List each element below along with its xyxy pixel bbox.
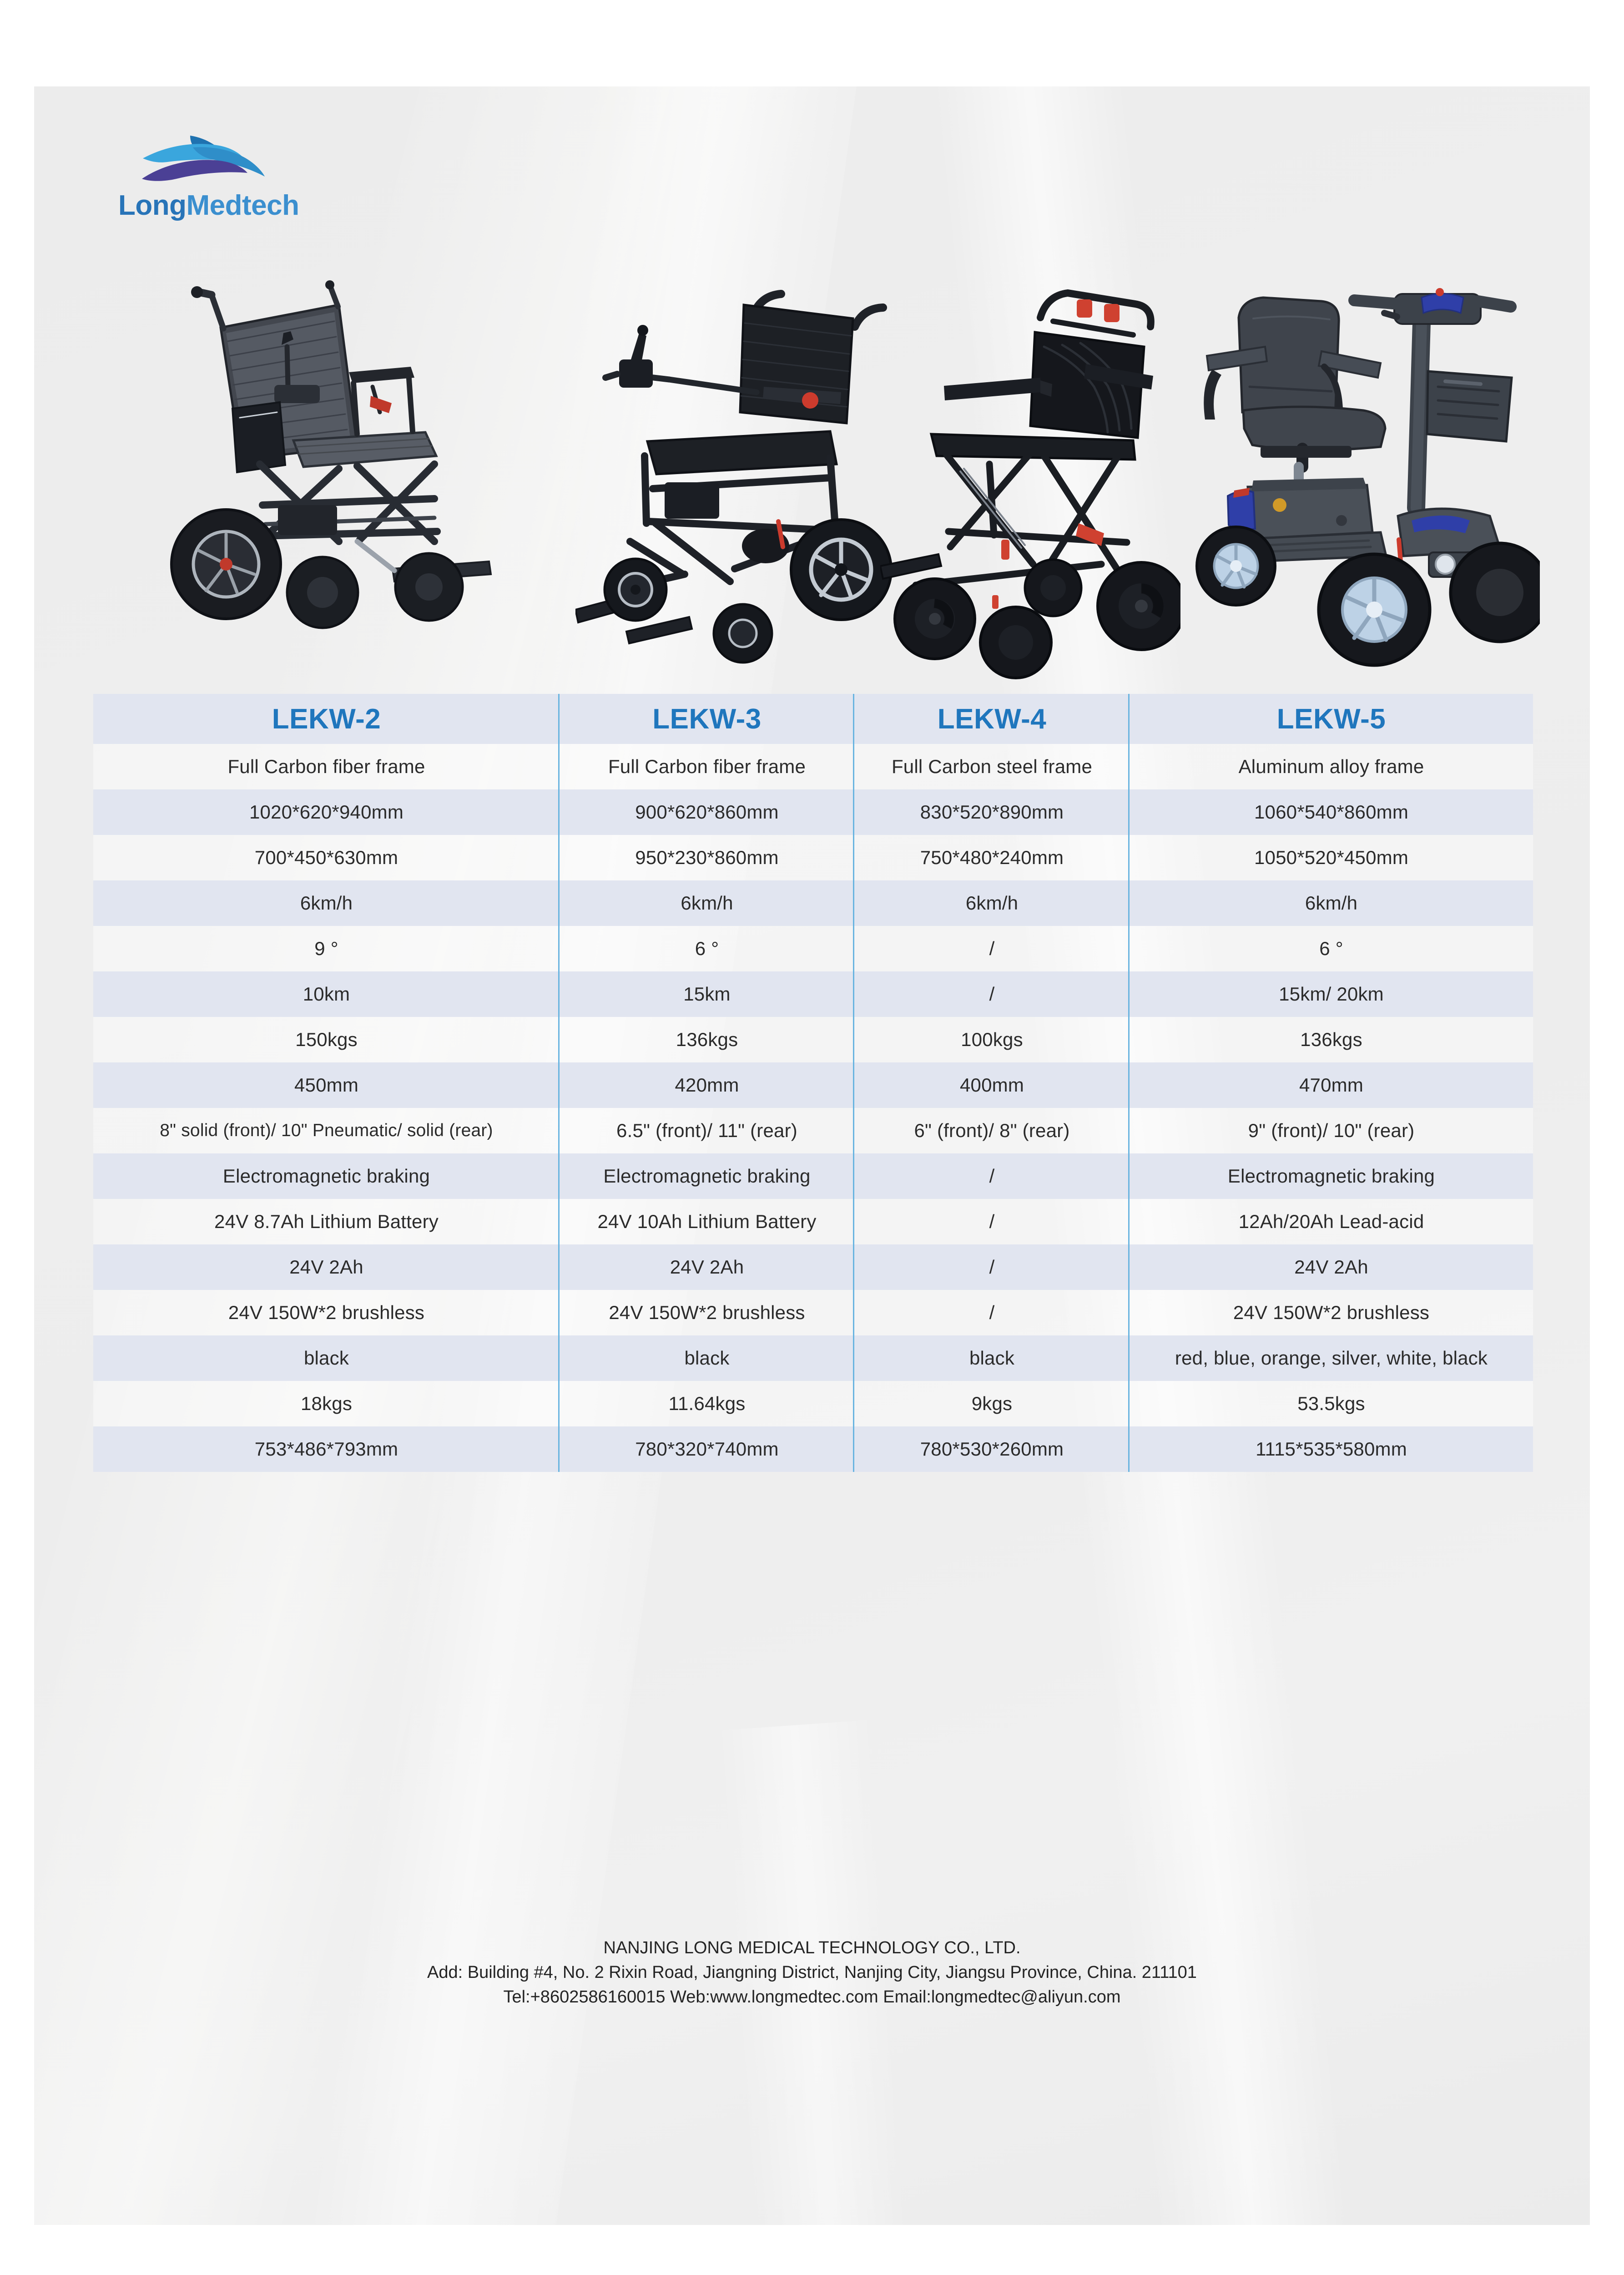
cell-net-weight-lekw-3: 11.64kgs — [560, 1381, 854, 1426]
cell-speed-lekw-5: 6km/h — [1130, 880, 1533, 926]
cell-frame-lekw-5: Aluminum alloy frame — [1130, 744, 1533, 789]
logo-word-long: Long — [118, 190, 187, 221]
cell-tires-lekw-2: 8" solid (front)/ 10" Pneumatic/ solid (… — [93, 1108, 560, 1153]
table-row: Electromagnetic braking Electromagnetic … — [93, 1153, 1533, 1199]
cell-range-lekw-3: 15km — [560, 971, 854, 1017]
cell-charger-lekw-3: 24V 2Ah — [560, 1244, 854, 1290]
cell-tires-lekw-3: 6.5" (front)/ 11" (rear) — [560, 1108, 854, 1153]
cell-braking-lekw-3: Electromagnetic braking — [560, 1153, 854, 1199]
cell-load-lekw-5: 136kgs — [1130, 1017, 1533, 1062]
logo-word-medtech: Medtech — [187, 190, 299, 221]
cell-color-lekw-3: black — [560, 1335, 854, 1381]
cell-speed-lekw-2: 6km/h — [93, 880, 560, 926]
cell-folded-size-lekw-2: 700*450*630mm — [93, 835, 560, 880]
table-row: 6km/h 6km/h 6km/h 6km/h — [93, 880, 1533, 926]
cell-load-lekw-3: 136kgs — [560, 1017, 854, 1062]
footer-contact-line: Tel:+8602586160015 Web:www.longmedtec.co… — [34, 1985, 1590, 2010]
table-header-row: LEKW-2 LEKW-3 LEKW-4 LEKW-5 — [93, 694, 1533, 744]
cell-load-lekw-2: 150kgs — [93, 1017, 560, 1062]
footer-contact-block: NANJING LONG MEDICAL TECHNOLOGY CO., LTD… — [34, 1936, 1590, 2010]
cell-package-size-lekw-2: 753*486*793mm — [93, 1426, 560, 1472]
column-header-lekw-3: LEKW-3 — [560, 694, 854, 744]
spec-sheet-page: LongMedtech — [34, 86, 1590, 2225]
cell-seat-width-lekw-4: 400mm — [854, 1062, 1130, 1108]
cell-charger-lekw-5: 24V 2Ah — [1130, 1244, 1533, 1290]
footer-company-name: NANJING LONG MEDICAL TECHNOLOGY CO., LTD… — [34, 1936, 1590, 1961]
cell-color-lekw-4: black — [854, 1335, 1130, 1381]
table-row: 450mm 420mm 400mm 470mm — [93, 1062, 1533, 1108]
table-row: 150kgs 136kgs 100kgs 136kgs — [93, 1017, 1533, 1062]
cell-range-lekw-4: / — [854, 971, 1130, 1017]
product-image-lekw-4 — [880, 250, 1180, 682]
cell-frame-lekw-3: Full Carbon fiber frame — [560, 744, 854, 789]
cell-range-lekw-5: 15km/ 20km — [1130, 971, 1533, 1017]
logo-wordmark: LongMedtech — [118, 189, 309, 222]
table-row: Full Carbon fiber frame Full Carbon fibe… — [93, 744, 1533, 789]
product-image-lekw-2 — [143, 250, 507, 682]
cell-motor-lekw-5: 24V 150W*2 brushless — [1130, 1290, 1533, 1335]
cell-charger-lekw-4: / — [854, 1244, 1130, 1290]
cell-net-weight-lekw-4: 9kgs — [854, 1381, 1130, 1426]
cell-net-weight-lekw-2: 18kgs — [93, 1381, 560, 1426]
cell-motor-lekw-3: 24V 150W*2 brushless — [560, 1290, 854, 1335]
cell-net-weight-lekw-5: 53.5kgs — [1130, 1381, 1533, 1426]
cell-climb-angle-lekw-5: 6 ° — [1130, 926, 1533, 971]
table-row: 24V 8.7Ah Lithium Battery 24V 10Ah Lithi… — [93, 1199, 1533, 1244]
cell-tires-lekw-4: 6" (front)/ 8" (rear) — [854, 1108, 1130, 1153]
cell-motor-lekw-4: / — [854, 1290, 1130, 1335]
cell-braking-lekw-5: Electromagnetic braking — [1130, 1153, 1533, 1199]
cell-color-lekw-5: red, blue, orange, silver, white, black — [1130, 1335, 1533, 1381]
cell-color-lekw-2: black — [93, 1335, 560, 1381]
table-row: 24V 150W*2 brushless 24V 150W*2 brushles… — [93, 1290, 1533, 1335]
cell-battery-lekw-5: 12Ah/20Ah Lead-acid — [1130, 1199, 1533, 1244]
column-header-lekw-2: LEKW-2 — [93, 694, 560, 744]
product-image-strip — [34, 250, 1590, 682]
product-image-lekw-3 — [575, 250, 894, 682]
cell-climb-angle-lekw-2: 9 ° — [93, 926, 560, 971]
cell-seat-width-lekw-2: 450mm — [93, 1062, 560, 1108]
table-row: 753*486*793mm 780*320*740mm 780*530*260m… — [93, 1426, 1533, 1472]
table-row: 8" solid (front)/ 10" Pneumatic/ solid (… — [93, 1108, 1533, 1153]
cell-package-size-lekw-4: 780*530*260mm — [854, 1426, 1130, 1472]
column-header-lekw-4: LEKW-4 — [854, 694, 1130, 744]
cell-charger-lekw-2: 24V 2Ah — [93, 1244, 560, 1290]
cell-tires-lekw-5: 9" (front)/ 10" (rear) — [1130, 1108, 1533, 1153]
cell-frame-lekw-4: Full Carbon steel frame — [854, 744, 1130, 789]
cell-braking-lekw-4: / — [854, 1153, 1130, 1199]
table-row: 24V 2Ah 24V 2Ah / 24V 2Ah — [93, 1244, 1533, 1290]
cell-folded-size-lekw-5: 1050*520*450mm — [1130, 835, 1533, 880]
cell-range-lekw-2: 10km — [93, 971, 560, 1017]
cell-speed-lekw-3: 6km/h — [560, 880, 854, 926]
wave-bird-logo-icon — [139, 132, 276, 187]
cell-folded-size-lekw-3: 950*230*860mm — [560, 835, 854, 880]
cell-climb-angle-lekw-3: 6 ° — [560, 926, 854, 971]
table-row: 10km 15km / 15km/ 20km — [93, 971, 1533, 1017]
table-row: 1020*620*940mm 900*620*860mm 830*520*890… — [93, 789, 1533, 835]
cell-frame-lekw-2: Full Carbon fiber frame — [93, 744, 560, 789]
footer-address: Add: Building #4, No. 2 Rixin Road, Jian… — [34, 1961, 1590, 1985]
company-logo: LongMedtech — [118, 132, 309, 222]
cell-unfolded-size-lekw-3: 900*620*860mm — [560, 789, 854, 835]
cell-folded-size-lekw-4: 750*480*240mm — [854, 835, 1130, 880]
cell-unfolded-size-lekw-2: 1020*620*940mm — [93, 789, 560, 835]
cell-seat-width-lekw-5: 470mm — [1130, 1062, 1533, 1108]
cell-seat-width-lekw-3: 420mm — [560, 1062, 854, 1108]
table-row: black black black red, blue, orange, sil… — [93, 1335, 1533, 1381]
cell-motor-lekw-2: 24V 150W*2 brushless — [93, 1290, 560, 1335]
cell-braking-lekw-2: Electromagnetic braking — [93, 1153, 560, 1199]
cell-unfolded-size-lekw-5: 1060*540*860mm — [1130, 789, 1533, 835]
product-image-lekw-5 — [1185, 250, 1540, 682]
cell-load-lekw-4: 100kgs — [854, 1017, 1130, 1062]
cell-unfolded-size-lekw-4: 830*520*890mm — [854, 789, 1130, 835]
cell-package-size-lekw-5: 1115*535*580mm — [1130, 1426, 1533, 1472]
table-row: 18kgs 11.64kgs 9kgs 53.5kgs — [93, 1381, 1533, 1426]
specification-table: LEKW-2 LEKW-3 LEKW-4 LEKW-5 Full Carbon … — [93, 694, 1533, 1472]
cell-battery-lekw-2: 24V 8.7Ah Lithium Battery — [93, 1199, 560, 1244]
cell-battery-lekw-3: 24V 10Ah Lithium Battery — [560, 1199, 854, 1244]
column-header-lekw-5: LEKW-5 — [1130, 694, 1533, 744]
cell-speed-lekw-4: 6km/h — [854, 880, 1130, 926]
table-row: 700*450*630mm 950*230*860mm 750*480*240m… — [93, 835, 1533, 880]
table-row: 9 ° 6 ° / 6 ° — [93, 926, 1533, 971]
cell-package-size-lekw-3: 780*320*740mm — [560, 1426, 854, 1472]
cell-battery-lekw-4: / — [854, 1199, 1130, 1244]
cell-climb-angle-lekw-4: / — [854, 926, 1130, 971]
